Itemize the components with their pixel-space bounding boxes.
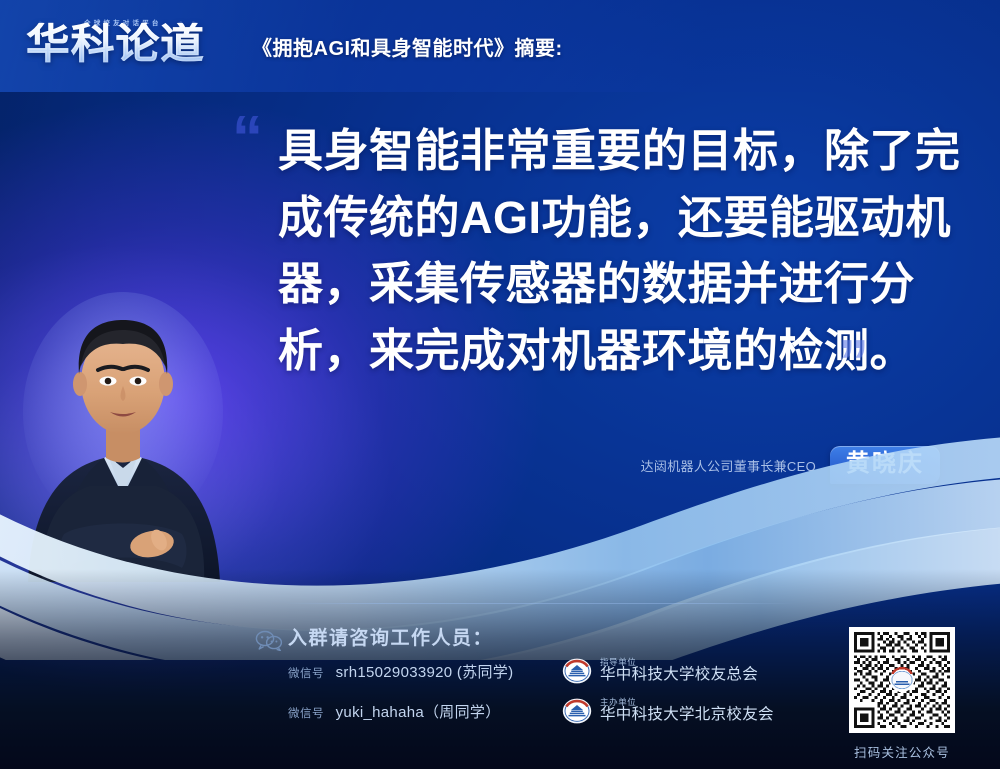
- university-seal-icon: [562, 656, 592, 686]
- qr-label: 扫码关注公众号: [836, 742, 968, 761]
- contact-label: 微信号: [288, 668, 324, 680]
- contact-value[interactable]: srh15029033920 (苏同学): [336, 664, 514, 681]
- speaker-portrait: [18, 282, 228, 582]
- speaker-role: 达闼机器人公司董事长兼CEO: [641, 456, 816, 475]
- contact-label: 微信号: [288, 708, 324, 720]
- qr-code[interactable]: [849, 627, 955, 733]
- university-seal-icon: [562, 696, 592, 726]
- footer-heading: 入群请咨询工作人员：: [288, 623, 493, 650]
- quote-line: 成传统的AGI功能，还要能驱动机: [278, 185, 938, 252]
- portrait-illustration: [18, 282, 228, 582]
- wechat-icon: [255, 629, 283, 651]
- quote-line: 器，采集传感器的数据并进行分: [278, 251, 938, 318]
- attribution: 达闼机器人公司董事长兼CEO 黄晓庆: [620, 446, 940, 484]
- logo-wordmark: 华科论道: [26, 23, 205, 65]
- contact-row: 微信号 yuki_hahaha（周同学）: [288, 701, 501, 722]
- brand-logo[interactable]: 全球校友对话平台 华科论道: [26, 15, 226, 77]
- contact-value[interactable]: yuki_hahaha（周同学）: [336, 704, 501, 721]
- quote-close-mark: ”: [838, 332, 869, 394]
- speaker-name-badge: 黄晓庆: [830, 446, 940, 484]
- footer-divider: [285, 603, 795, 604]
- quote-line: 具身智能非常重要的目标，除了完: [278, 118, 938, 185]
- organization-name: 华中科技大学校友总会: [600, 667, 758, 684]
- poster-canvas: 全球校友对话平台 华科论道 《拥抱AGI和具身智能时代》摘要:: [0, 0, 1000, 769]
- organizations: 指导单位 华中科技大学校友总会 主办单位 华中科技大学北京校友会: [562, 651, 774, 731]
- page-title: 《拥抱AGI和具身智能时代》摘要:: [252, 32, 563, 61]
- contact-row: 微信号 srh15029033920 (苏同学): [288, 661, 513, 682]
- header: 全球校友对话平台 华科论道 《拥抱AGI和具身智能时代》摘要:: [0, 0, 1000, 92]
- organization-row: 主办单位 华中科技大学北京校友会: [562, 691, 774, 731]
- qr-block: 扫码关注公众号: [836, 627, 968, 761]
- qr-code-image: [854, 632, 950, 728]
- footer: 入群请咨询工作人员： 微信号 srh15029033920 (苏同学) 微信号 …: [0, 619, 1000, 769]
- organization-row: 指导单位 华中科技大学校友总会: [562, 651, 774, 691]
- organization-name: 华中科技大学北京校友会: [600, 707, 774, 724]
- quote-open-mark: “: [232, 108, 263, 170]
